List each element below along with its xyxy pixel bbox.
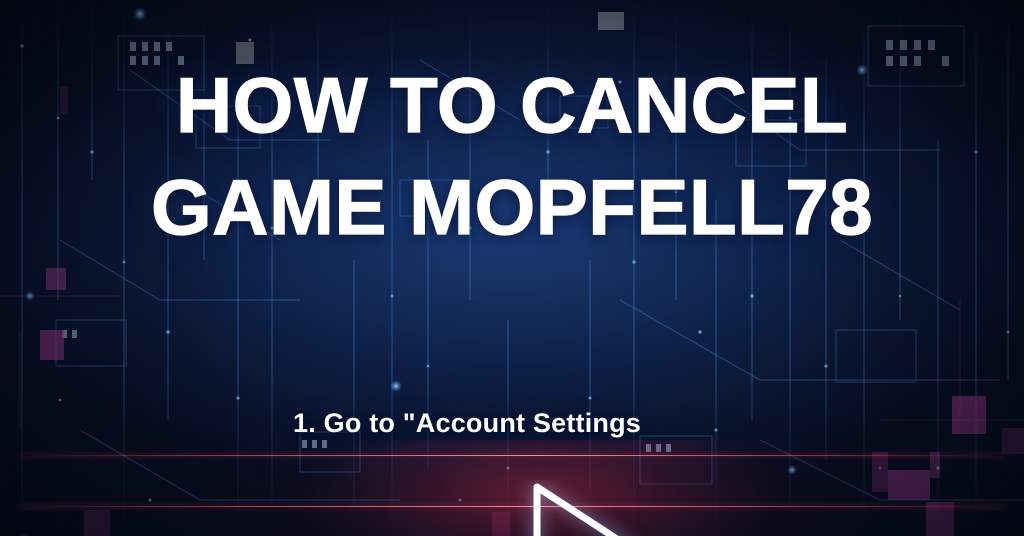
headline-line-1: HOW TO CANCEL xyxy=(176,61,848,149)
instruction-step-list: 1. Go to "Account Settings 2. Select Sub… xyxy=(293,306,688,536)
headline-line-2: GAME MOPFELL78 xyxy=(0,168,1024,246)
page-title: HOW TO CANCEL GAME MOPFELL78 xyxy=(0,66,1024,246)
promo-graphic-canvas: HOW TO CANCEL GAME MOPFELL78 1. Go to "A… xyxy=(0,0,1024,536)
list-item: 1. Go to "Account Settings xyxy=(293,400,688,447)
